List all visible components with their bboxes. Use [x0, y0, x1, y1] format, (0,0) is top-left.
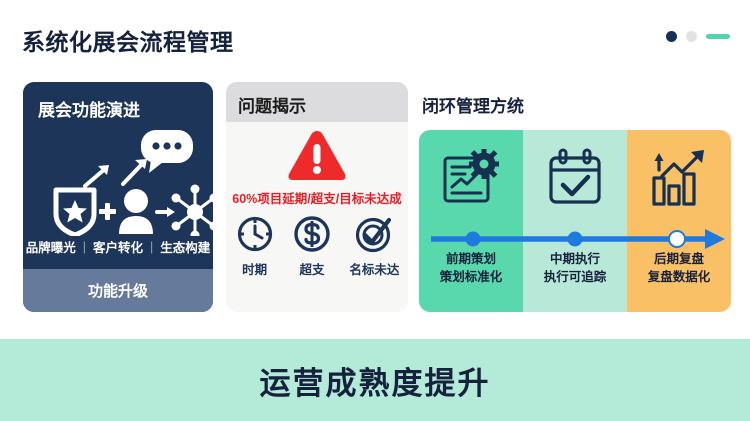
dollar-circle-icon — [292, 214, 332, 254]
closed-loop-title: 闭环管理方统 — [422, 92, 524, 117]
stage-label-line1: 后期复盘 — [627, 250, 731, 268]
metric-label: 时期 — [242, 259, 267, 278]
target-check-icon — [354, 214, 394, 254]
clock-icon — [235, 214, 275, 254]
evolution-footer: 功能升级 — [23, 269, 213, 312]
speech-bubble-icon — [141, 130, 193, 173]
label-separator: | — [150, 240, 153, 254]
arrow-up-icon — [85, 159, 147, 186]
stage-icon-wrap — [627, 148, 731, 208]
evolution-icon-group — [23, 124, 213, 236]
stage-panel-2: 中期执行 执行可追踪 — [523, 130, 627, 312]
network-icon — [172, 185, 214, 237]
plus-icon — [99, 203, 116, 220]
evolution-graphic — [23, 124, 213, 236]
metric-item: 名标未达 — [349, 214, 399, 278]
warning-triangle-icon — [286, 128, 348, 184]
metric-item: 时期 — [235, 214, 275, 278]
shield-star-icon — [56, 190, 94, 235]
stage-label-line2: 执行可追踪 — [523, 268, 627, 286]
bottom-banner: 运营成熟度提升 — [0, 339, 750, 421]
card-evolution: 展会功能演进 — [23, 82, 213, 312]
warning-wrap — [226, 127, 408, 185]
card-problem-title: 问题揭示 — [238, 92, 306, 117]
person-icon — [119, 189, 153, 234]
closed-loop-panels: 前期策划 策划标准化 中期执行 执行可追踪 — [419, 130, 731, 312]
header-decoration — [666, 31, 730, 42]
problem-metrics: 时期 超支 名标未达 — [226, 214, 408, 278]
stage-panel-1: 前期策划 策划标准化 — [419, 130, 523, 312]
metric-item: 超支 — [292, 214, 332, 278]
navy-dot-icon — [666, 31, 677, 42]
teal-dash-icon — [706, 34, 730, 39]
stage-labels-3: 后期复盘 复盘数据化 — [627, 250, 731, 286]
arrow-right-icon — [157, 207, 175, 217]
stage-label-line1: 前期策划 — [419, 250, 523, 268]
slide-root: 系统化展会流程管理 展会功能演进 — [0, 0, 750, 421]
stage-panel-3: 后期复盘 复盘数据化 — [627, 130, 731, 312]
growth-chart-icon — [648, 148, 710, 208]
gray-dot-icon — [686, 31, 697, 42]
evolution-label-1: 品牌曝光 — [26, 237, 76, 256]
page-title: 系统化展会流程管理 — [22, 23, 234, 57]
card-problem: 问题揭示 60%项目延期/超支/目标未达成 时期 — [226, 82, 408, 312]
header: 系统化展会流程管理 — [0, 0, 750, 72]
stage-label-line2: 复盘数据化 — [627, 268, 731, 286]
alert-text: 60%项目延期/超支/目标未达成 — [226, 188, 408, 207]
report-gear-icon — [440, 148, 502, 210]
label-separator: | — [83, 240, 86, 254]
metric-label: 超支 — [299, 259, 324, 278]
evolution-labels: 品牌曝光 | 客户转化 | 生态构建 — [23, 237, 213, 256]
calendar-check-icon — [546, 148, 604, 208]
stage-icon-wrap — [523, 148, 627, 208]
stage-label-line2: 策划标准化 — [419, 268, 523, 286]
banner-text: 运营成熟度提升 — [260, 358, 491, 403]
stage-label-line1: 中期执行 — [523, 250, 627, 268]
evolution-label-2: 客户转化 — [93, 237, 143, 256]
stage-icon-wrap — [419, 148, 523, 210]
stage-labels-2: 中期执行 执行可追踪 — [523, 250, 627, 286]
metric-label: 名标未达 — [349, 259, 399, 278]
evolution-label-3: 生态构建 — [160, 237, 210, 256]
stage-labels-1: 前期策划 策划标准化 — [419, 250, 523, 286]
card-evolution-title: 展会功能演进 — [38, 96, 140, 121]
